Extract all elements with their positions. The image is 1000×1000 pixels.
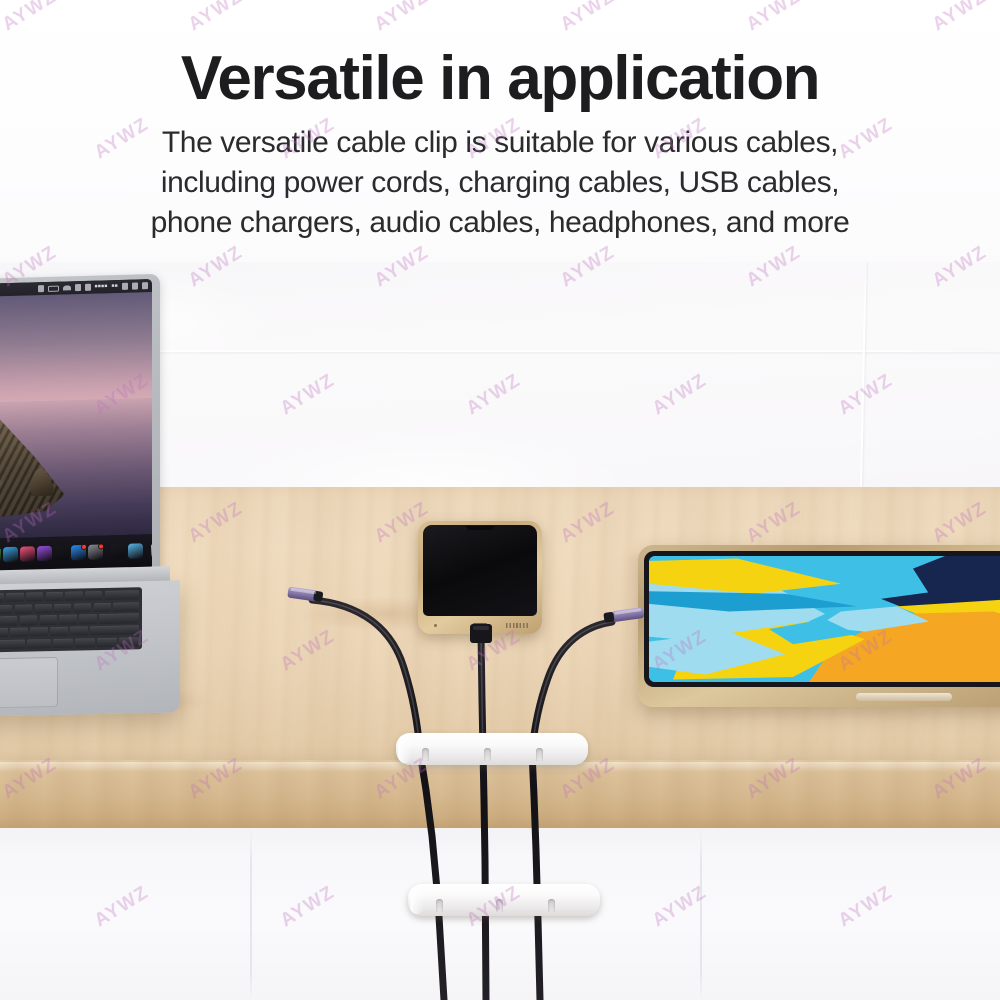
clip-slot[interactable] (536, 748, 543, 761)
keyboard-key[interactable] (35, 604, 52, 614)
cable-clip-wall[interactable] (408, 884, 600, 916)
phone-body (418, 521, 542, 634)
notification-badge (81, 544, 87, 550)
description-line-1: The versatile cable clip is suitable for… (0, 123, 1000, 163)
product-marketing-image: ■■■■ ■■ (0, 0, 1000, 1000)
laptop-screen: ■■■■ ■■ (0, 279, 152, 575)
tablet-screen[interactable] (649, 556, 1000, 682)
cabinet-seam (250, 828, 252, 1000)
keyboard-key[interactable] (6, 593, 23, 603)
laptop-keyboard[interactable] (0, 587, 142, 655)
clip-slot[interactable] (422, 748, 429, 761)
clip-slot[interactable] (436, 899, 443, 912)
keyboard-key[interactable] (40, 615, 57, 625)
keyboard-key[interactable] (0, 628, 8, 638)
phone-notch (466, 526, 494, 530)
phone-speaker-grill (506, 623, 528, 628)
cabinet-seam (700, 828, 702, 1000)
keyboard-key[interactable] (119, 637, 139, 647)
dock-icon-system-preferences[interactable] (88, 544, 103, 559)
keyboard-key[interactable] (46, 592, 63, 602)
keyboard-key[interactable] (0, 639, 25, 650)
keyboard-key[interactable] (90, 625, 139, 635)
desk-front-edge (0, 760, 1000, 830)
keyboard-key[interactable] (74, 603, 91, 613)
wifi-icon[interactable] (63, 285, 71, 290)
tablet-bezel (644, 551, 1000, 687)
laptop-trackpad[interactable] (0, 657, 58, 710)
keyboard-key[interactable] (105, 590, 139, 600)
dock-icon-downloads-folder[interactable] (128, 543, 143, 558)
keyboard-key[interactable] (26, 592, 43, 602)
keyboard-key[interactable] (27, 639, 50, 649)
keyboard-key[interactable] (65, 591, 82, 601)
laptop-lid: ■■■■ ■■ (0, 274, 160, 582)
wallpaper-sky (0, 292, 152, 407)
keyboard-key[interactable] (54, 603, 71, 613)
keyboard-key[interactable] (79, 615, 96, 625)
keyboard-key[interactable] (99, 614, 139, 624)
keyboard-key[interactable] (59, 615, 76, 625)
dock-icon-appletv[interactable] (54, 545, 69, 560)
description-line-2: including power cords, charging cables, … (0, 163, 1000, 203)
description: The versatile cable clip is suitable for… (0, 123, 1000, 244)
tablet-body (638, 545, 1000, 707)
display-icon[interactable] (85, 284, 91, 291)
keyboard-key[interactable] (30, 627, 48, 637)
battery-icon[interactable] (48, 285, 59, 291)
desk-edge-grain (0, 760, 1000, 830)
marketing-text-block: Versatile in application The versatile c… (0, 46, 1000, 244)
page-title: Versatile in application (0, 46, 1000, 111)
dock-icon-keynote[interactable] (3, 547, 18, 562)
dock-icon-app-store[interactable] (71, 545, 86, 560)
keyboard-key[interactable] (20, 616, 37, 626)
notification-badge (98, 543, 104, 549)
keyboard-key[interactable] (0, 593, 4, 603)
menu-bar-clock: ■■■■ (95, 284, 108, 289)
keyboard-key[interactable] (85, 591, 102, 601)
clip-slot[interactable] (496, 899, 503, 912)
control-center-icon[interactable] (38, 285, 44, 292)
keyboard-key[interactable] (75, 638, 95, 648)
phone-microphone (434, 624, 437, 627)
keyboard-key[interactable] (94, 603, 111, 613)
keyboard-key[interactable] (50, 627, 68, 637)
dock-icon-terminal[interactable] (111, 544, 126, 559)
keyboard-key[interactable] (70, 626, 88, 636)
smartphone-device (418, 521, 542, 634)
keyboard-key[interactable] (15, 604, 32, 614)
notifications-icon[interactable] (142, 282, 148, 289)
clip-highlight (398, 735, 412, 763)
cable-clip-desk[interactable] (396, 733, 588, 765)
dock-icon-music[interactable] (20, 546, 35, 561)
phone-usb-c-port (473, 623, 488, 628)
dock-icon-trash[interactable] (151, 543, 152, 558)
keyboard-key[interactable] (10, 628, 28, 638)
clip-slot[interactable] (484, 748, 491, 761)
dock-icon-numbers[interactable] (0, 547, 1, 562)
clip-highlight (410, 886, 424, 914)
desktop-wallpaper (0, 292, 152, 542)
phone-screen[interactable] (423, 525, 537, 616)
laptop-device: ■■■■ ■■ (0, 278, 310, 738)
tablet-device (638, 545, 1000, 707)
volume-icon[interactable] (75, 284, 81, 291)
dock-icon-podcasts[interactable] (37, 546, 52, 561)
tablet-home-indicator (856, 693, 952, 701)
keyboard-key[interactable] (0, 616, 17, 626)
search-icon[interactable] (122, 283, 128, 290)
description-line-3: phone chargers, audio cables, headphones… (0, 203, 1000, 243)
siri-icon[interactable] (132, 282, 138, 289)
keyboard-key[interactable] (0, 605, 12, 615)
clip-slot[interactable] (548, 899, 555, 912)
keyboard-row (0, 637, 139, 652)
menu-bar-user[interactable]: ■■ (112, 284, 118, 289)
keyboard-key[interactable] (53, 638, 73, 648)
keyboard-key[interactable] (113, 602, 139, 612)
keyboard-key[interactable] (97, 638, 117, 648)
laptop-deck (0, 580, 180, 719)
